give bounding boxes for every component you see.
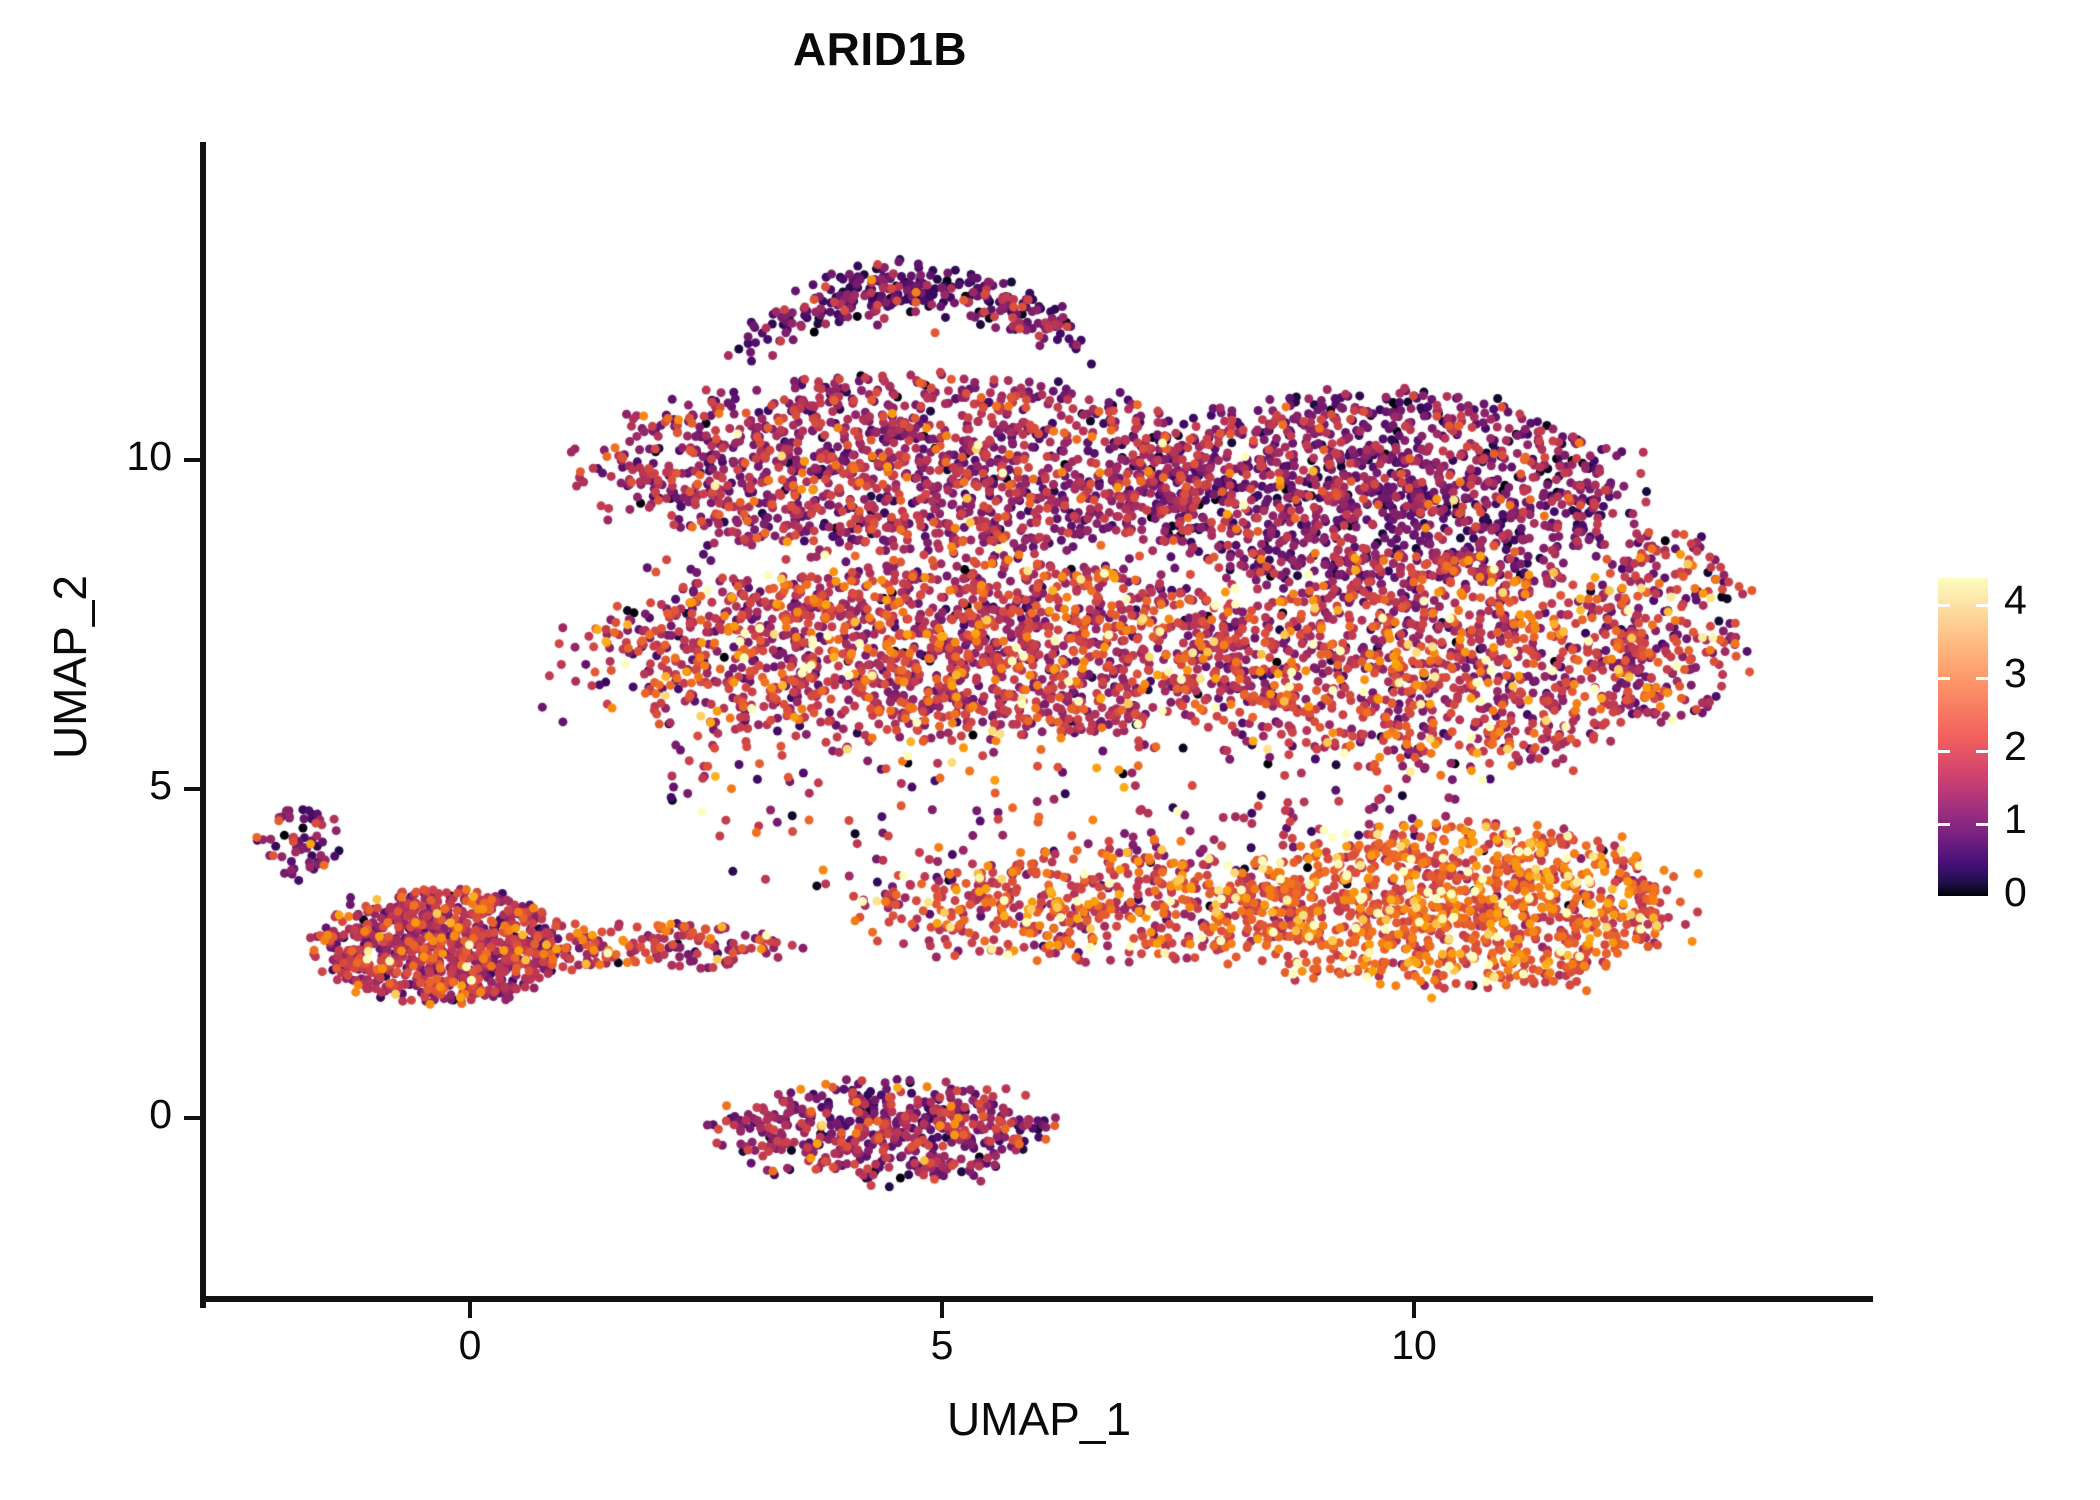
legend-tick-1 bbox=[1976, 823, 1988, 826]
y-tick-label-0: 0 bbox=[0, 1091, 172, 1138]
legend-tick-4 bbox=[1938, 604, 1950, 607]
legend-tick-3 bbox=[1976, 677, 1988, 680]
y-tick-1 bbox=[184, 787, 200, 791]
x-tick-label-0: 0 bbox=[410, 1322, 530, 1369]
y-tick-2 bbox=[184, 458, 200, 462]
x-tick-label-2: 10 bbox=[1354, 1322, 1474, 1369]
x-tick-0 bbox=[468, 1302, 472, 1318]
legend-label-1: 1 bbox=[2004, 796, 2064, 843]
plot-panel bbox=[205, 142, 1873, 1302]
legend-tick-2 bbox=[1976, 750, 1988, 753]
legend-label-0: 0 bbox=[2004, 869, 2064, 916]
legend-tick-1 bbox=[1938, 823, 1950, 826]
legend-tick-0 bbox=[1938, 896, 1950, 899]
x-axis-title: UMAP_1 bbox=[205, 1392, 1873, 1446]
scatter-plot-canvas bbox=[205, 142, 1873, 1302]
y-axis-spine bbox=[200, 142, 206, 1308]
chart-root: ARID1B 0510 0510 UMAP_1 UMAP_2 43210 bbox=[0, 0, 2100, 1500]
legend-tick-0 bbox=[1976, 896, 1988, 899]
y-axis-title: UMAP_2 bbox=[43, 287, 97, 1047]
y-tick-0 bbox=[184, 1116, 200, 1120]
legend-tick-3 bbox=[1938, 677, 1950, 680]
page-title: ARID1B bbox=[0, 22, 1760, 76]
legend-label-2: 2 bbox=[2004, 723, 2064, 770]
legend-tick-4 bbox=[1976, 604, 1988, 607]
colorbar-gradient bbox=[1938, 578, 1988, 896]
legend-tick-2 bbox=[1938, 750, 1950, 753]
x-tick-1 bbox=[940, 1302, 944, 1318]
x-tick-2 bbox=[1412, 1302, 1416, 1318]
legend-label-3: 3 bbox=[2004, 650, 2064, 697]
x-tick-label-1: 5 bbox=[882, 1322, 1002, 1369]
legend-label-4: 4 bbox=[2004, 577, 2064, 624]
x-axis-spine bbox=[200, 1296, 1873, 1302]
